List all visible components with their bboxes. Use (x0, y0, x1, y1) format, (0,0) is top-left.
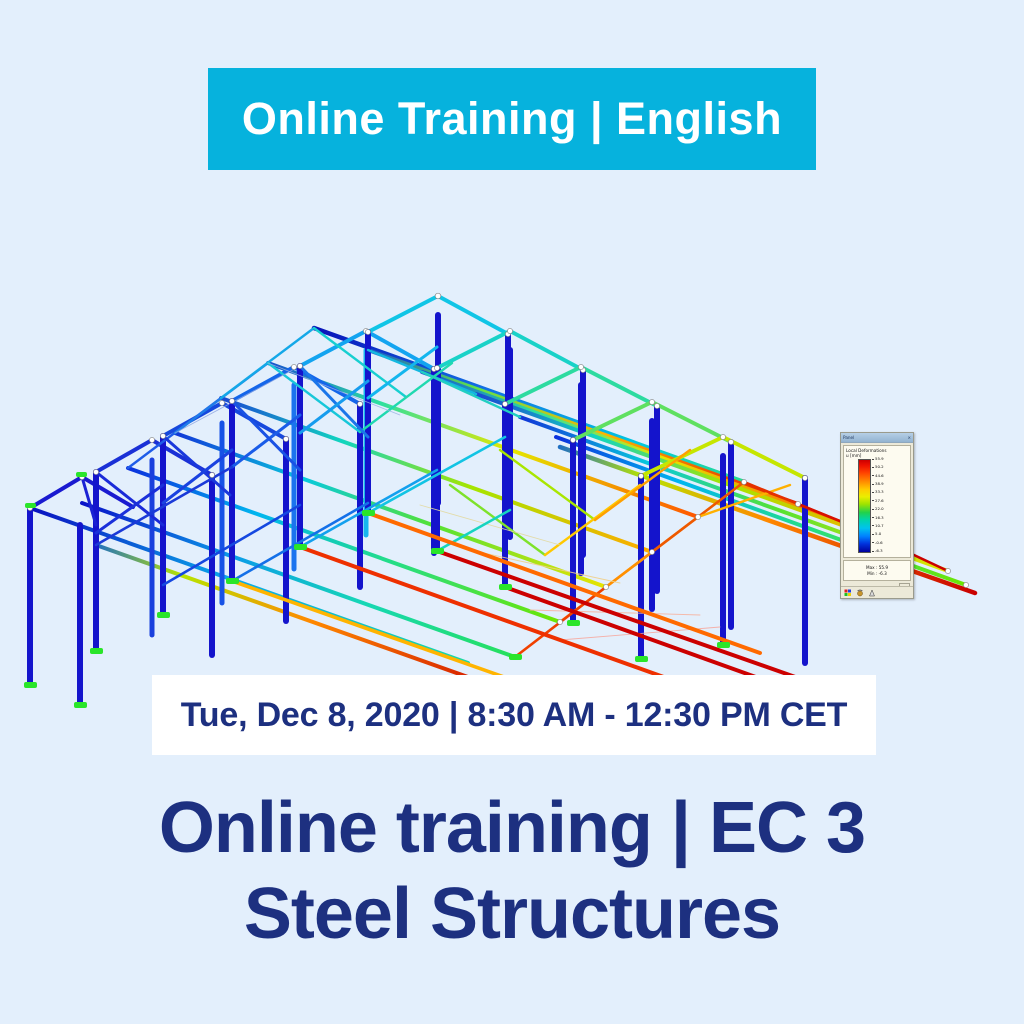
model-nodes (27, 293, 968, 659)
poster-canvas: Online Training | English (0, 0, 1024, 1024)
page-title-line-1: Online training | EC 3 (0, 785, 1024, 871)
factor-icon[interactable] (868, 589, 876, 597)
panel-title-label: Panel (843, 433, 854, 442)
legend-tick: 27.6 (872, 499, 884, 503)
frame-1 (30, 477, 133, 705)
page-title-line-2: Steel Structures (0, 871, 1024, 957)
legend-tick: -0.6 (872, 541, 883, 545)
date-label: Tue, Dec 8, 2020 | 8:30 AM - 12:30 PM CE… (181, 696, 847, 735)
legend-tick: 10.7 (872, 524, 884, 528)
legend-tick: 55.9 (872, 457, 884, 461)
roof-purlins-left (82, 328, 744, 657)
frame-2 (96, 440, 212, 655)
top-banner: Online Training | English (208, 68, 816, 170)
results-panel[interactable]: Panel × Local Deformations u [mm] 55.950… (840, 432, 914, 599)
legend-tick: 50.2 (872, 465, 884, 469)
color-palette-icon[interactable] (844, 589, 852, 597)
legend-tick: 5.0 (872, 532, 881, 536)
legend-colorbar-group: 55.950.244.638.933.327.622.016.310.75.0-… (858, 459, 898, 553)
panel-legend-body: Local Deformations u [mm] 55.950.244.638… (843, 445, 911, 558)
panel-minmax-box: Max : 55.9 Min : -6.3 (843, 560, 911, 581)
legend-tick: -6.3 (872, 549, 883, 553)
legend-tick: 22.0 (872, 507, 884, 511)
panel-toolbar[interactable] (841, 586, 913, 598)
date-band: Tue, Dec 8, 2020 | 8:30 AM - 12:30 PM CE… (152, 675, 876, 755)
panel-min-label: Min : -6.3 (867, 571, 887, 577)
close-icon[interactable]: × (907, 433, 911, 442)
legend-tick: 16.3 (872, 516, 884, 520)
legend-colorbar (858, 459, 871, 553)
legend-tick: 38.9 (872, 482, 884, 486)
legend-tick: 33.3 (872, 490, 884, 494)
roof-bracing (128, 328, 948, 657)
rendering-icon[interactable] (856, 589, 864, 597)
legend-tick-list: 55.950.244.638.933.327.622.016.310.75.0-… (872, 459, 898, 553)
legend-tick: 44.6 (872, 474, 884, 478)
page-title: Online training | EC 3 Steel Structures (0, 785, 1024, 957)
panel-title-bar[interactable]: Panel × (841, 433, 913, 443)
top-banner-label: Online Training | English (242, 93, 782, 145)
